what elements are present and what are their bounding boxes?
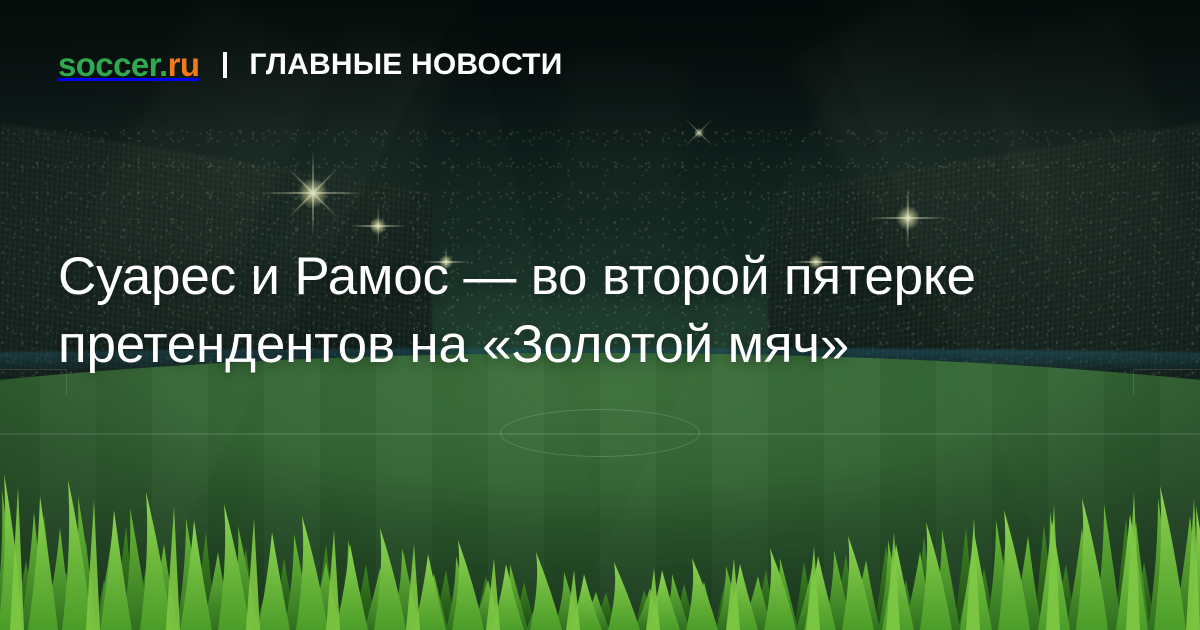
logo-text-soccer: soccer [58,46,159,83]
headline-line-1: Суарес и Рамос — во второй пятерке [58,243,1148,311]
logo-text-ru: ru [168,46,200,83]
headline-line-2: претендентов на «Золотой мяч» [58,311,1148,379]
page-title: Суарес и Рамос — во второй пятерке прете… [58,243,1148,379]
header-kicker: ГЛАВНЫЕ НОВОСТИ [249,50,562,80]
site-logo[interactable]: soccer.ru [58,48,199,81]
news-cover-poster: soccer.ru ГЛАВНЫЕ НОВОСТИ Суарес и Рамос… [0,0,1200,630]
logo-text-dot: . [159,46,168,83]
header-divider [223,52,227,78]
site-header: soccer.ru ГЛАВНЫЕ НОВОСТИ [58,48,562,81]
